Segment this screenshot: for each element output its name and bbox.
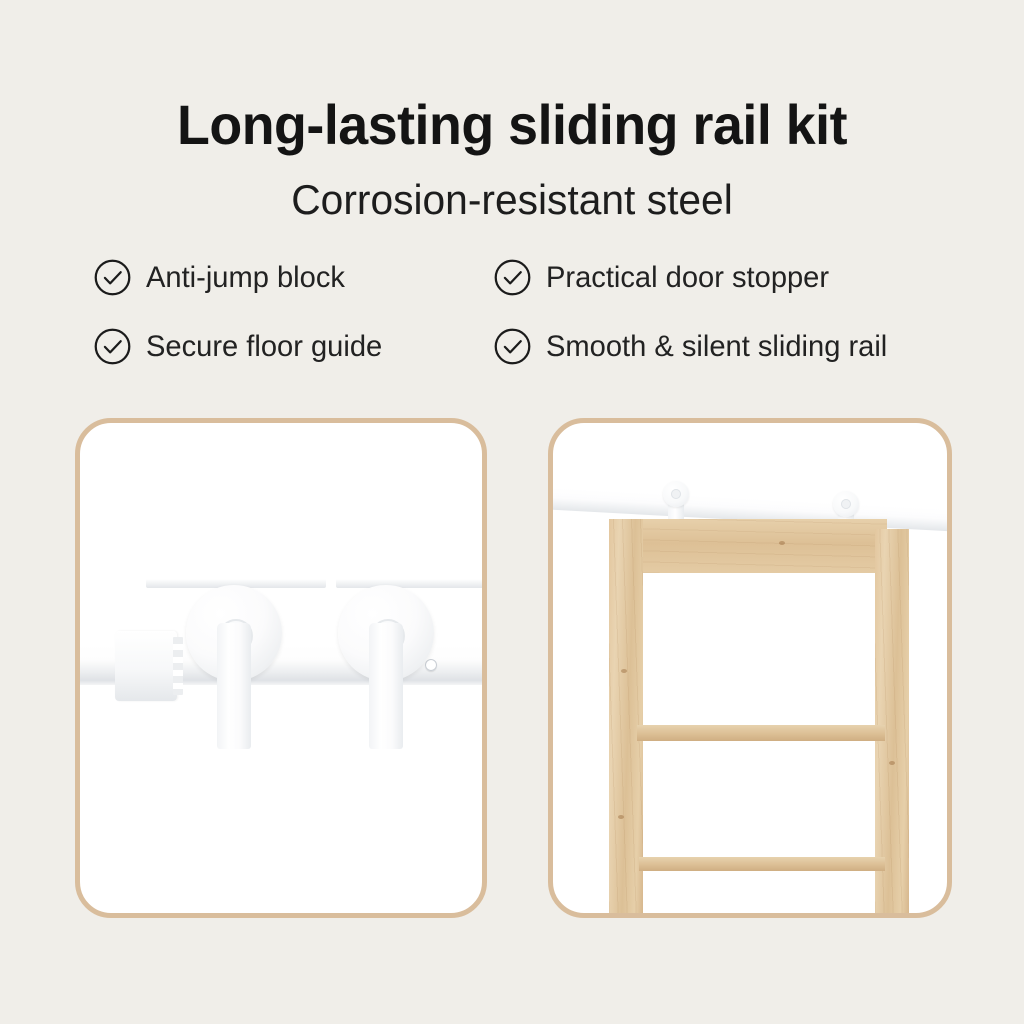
- feature-item-smooth-silent-sliding-rail: Smooth & silent sliding rail: [493, 327, 898, 366]
- roller-wheel: [663, 481, 689, 507]
- frame-head-rail: [631, 519, 887, 573]
- wood-knot: [618, 815, 624, 819]
- roller-wheel: [833, 491, 859, 517]
- feature-label: Secure floor guide: [146, 330, 382, 364]
- hanger-strap: [369, 623, 403, 749]
- installed-door-photo-panel: [548, 418, 952, 918]
- feature-item-anti-jump-block: Anti-jump block: [93, 258, 351, 297]
- feature-item-secure-floor-guide: Secure floor guide: [93, 327, 390, 366]
- roller-hardware-image: [80, 423, 482, 913]
- check-circle-icon: [493, 327, 532, 366]
- frame-middle-rail: [637, 725, 885, 741]
- wood-knot: [779, 541, 785, 545]
- stopper-teeth: [173, 637, 183, 695]
- frame-right-stile: [875, 529, 909, 913]
- roller-hanger: [186, 585, 282, 753]
- roller-hardware-photo-panel: [75, 418, 487, 918]
- installed-door-image: [553, 423, 947, 913]
- feature-label: Anti-jump block: [146, 261, 345, 295]
- feature-label: Smooth & silent sliding rail: [546, 330, 887, 364]
- wood-knot: [889, 761, 895, 765]
- frame-lower-rail: [639, 857, 885, 871]
- page-subtitle: Corrosion-resistant steel: [15, 176, 1008, 224]
- check-circle-icon: [93, 327, 132, 366]
- infographic-page: Long-lasting sliding rail kit Corrosion-…: [0, 0, 1024, 1024]
- feature-label: Practical door stopper: [546, 261, 829, 295]
- frame-left-stile: [609, 519, 643, 913]
- hanger-strap: [217, 623, 251, 749]
- feature-list: Anti-jump block Practical door stopper S…: [0, 258, 1024, 388]
- feature-item-practical-door-stopper: Practical door stopper: [493, 258, 838, 297]
- wood-knot: [621, 669, 627, 673]
- roller-hanger: [338, 585, 434, 753]
- door-stopper-block: [115, 631, 177, 701]
- wooden-door-frame: [609, 519, 909, 913]
- check-circle-icon: [493, 258, 532, 297]
- check-circle-icon: [93, 258, 132, 297]
- page-title: Long-lasting sliding rail kit: [20, 92, 1003, 157]
